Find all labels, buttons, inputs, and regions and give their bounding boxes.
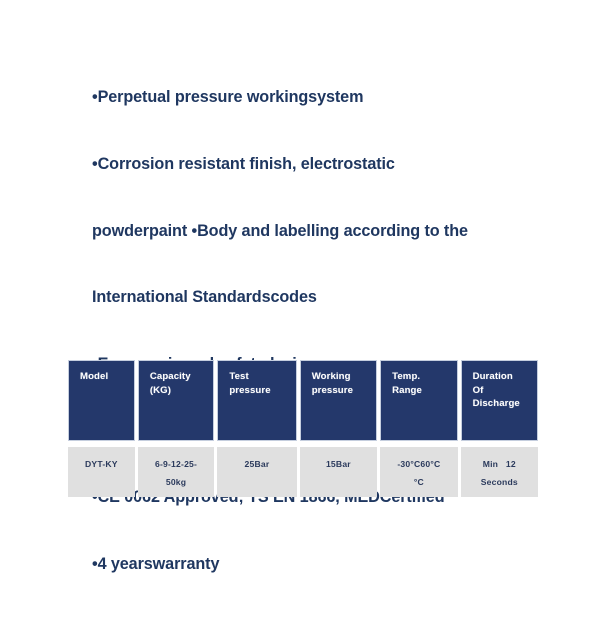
cell-text: Min 12 [483, 455, 516, 473]
table-row: DYT-KY 6-9-12-25- 50kg 25Bar 15Bar -30°C… [68, 447, 538, 497]
header-text: Temp. [392, 370, 456, 384]
table-header-cell-working-pressure: Working pressure [300, 360, 377, 441]
table-cell-model: DYT-KY [68, 447, 135, 497]
specification-table: Model Capacity (KG) Test pressure Workin… [68, 360, 538, 497]
table-header-row: Model Capacity (KG) Test pressure Workin… [68, 360, 538, 441]
feature-line-8: •4 yearswarranty [92, 553, 512, 575]
header-text: Duration [473, 370, 537, 384]
header-text: pressure [229, 384, 295, 398]
header-text: Test [229, 370, 295, 384]
header-text: Discharge [473, 397, 537, 411]
table-header-cell-capacity: Capacity (KG) [138, 360, 214, 441]
table-cell-capacity: 6-9-12-25- 50kg [138, 447, 214, 497]
header-text: Model [80, 370, 134, 384]
header-text: Of [473, 384, 537, 398]
features-paragraph: •Perpetual pressure workingsystem •Corro… [92, 42, 512, 619]
table-cell-duration-of-discharge: Min 12 Seconds [461, 447, 538, 497]
cell-text: 15Bar [326, 455, 351, 473]
cell-text: DYT-KY [85, 455, 118, 473]
header-text: pressure [312, 384, 376, 398]
header-text: Range [392, 384, 456, 398]
table-cell-working-pressure: 15Bar [300, 447, 377, 497]
cell-text: °C [414, 473, 424, 491]
feature-line-3: powderpaint •Body and labelling accordin… [92, 220, 512, 242]
cell-text: 6-9-12-25- [155, 455, 197, 473]
header-text: Capacity [150, 370, 213, 384]
header-text: (KG) [150, 384, 213, 398]
table-header-cell-test-pressure: Test pressure [217, 360, 296, 441]
product-features-list: •Perpetual pressure workingsystem •Corro… [92, 42, 512, 619]
cell-text: 50kg [166, 473, 186, 491]
cell-text: -30°C60°C [397, 455, 440, 473]
feature-line-1: •Perpetual pressure workingsystem [92, 86, 512, 108]
feature-line-2: •Corrosion resistant finish, electrostat… [92, 153, 512, 175]
cell-text: 25Bar [245, 455, 270, 473]
table-cell-temp-range: -30°C60°C °C [380, 447, 457, 497]
table-header-cell-model: Model [68, 360, 135, 441]
header-text: Working [312, 370, 376, 384]
cell-text: Seconds [481, 473, 518, 491]
table-header-cell-duration-of-discharge: Duration Of Discharge [461, 360, 538, 441]
table-header-cell-temp-range: Temp. Range [380, 360, 457, 441]
feature-line-4: International Standardscodes [92, 286, 512, 308]
table-cell-test-pressure: 25Bar [217, 447, 296, 497]
